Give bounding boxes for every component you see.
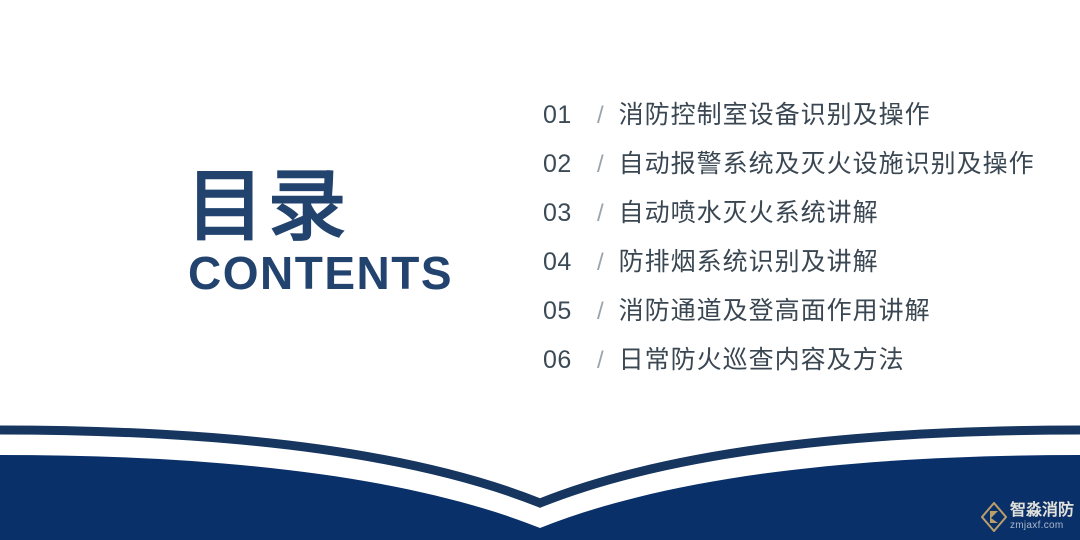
brand-diamond-logo-icon — [981, 502, 1007, 532]
item-label: 防排烟系统识别及讲解 — [619, 242, 879, 278]
slide-canvas: 目录 CONTENTS 01 / 消防控制室设备识别及操作 02 / 自动报警系… — [0, 0, 1080, 540]
item-label: 消防通道及登高面作用讲解 — [619, 291, 931, 327]
item-number: 04 — [543, 248, 585, 277]
page-title-english: CONTENTS — [188, 250, 486, 296]
item-separator: / — [597, 102, 604, 130]
item-number: 02 — [543, 150, 585, 179]
item-separator: / — [597, 347, 604, 375]
item-number: 06 — [543, 346, 585, 375]
list-item[interactable]: 02 / 自动报警系统及灭火设施识别及操作 — [543, 144, 1063, 193]
item-separator: / — [597, 151, 604, 179]
title-block: 目录 CONTENTS — [186, 168, 486, 296]
contents-list: 01 / 消防控制室设备识别及操作 02 / 自动报警系统及灭火设施识别及操作 … — [543, 95, 1063, 389]
item-label: 自动喷水灭火系统讲解 — [619, 193, 879, 229]
watermark: 智淼消防 zmjaxf.com — [981, 502, 1074, 532]
list-item[interactable]: 05 / 消防通道及登高面作用讲解 — [543, 291, 1063, 340]
open-book-decoration-icon — [0, 400, 1080, 540]
list-item[interactable]: 06 / 日常防火巡查内容及方法 — [543, 340, 1063, 389]
watermark-brand-name: 智淼消防 — [1010, 503, 1074, 519]
item-number: 05 — [543, 297, 585, 326]
page-title-chinese: 目录 — [186, 168, 486, 244]
item-number: 03 — [543, 199, 585, 228]
item-number: 01 — [543, 101, 585, 130]
item-label: 自动报警系统及灭火设施识别及操作 — [619, 144, 1035, 180]
item-label: 消防控制室设备识别及操作 — [619, 95, 931, 131]
list-item[interactable]: 03 / 自动喷水灭火系统讲解 — [543, 193, 1063, 242]
list-item[interactable]: 04 / 防排烟系统识别及讲解 — [543, 242, 1063, 291]
item-separator: / — [597, 298, 604, 326]
book-body-shape — [0, 455, 1080, 540]
item-separator: / — [597, 200, 604, 228]
watermark-text: 智淼消防 zmjaxf.com — [1010, 503, 1074, 531]
watermark-url: zmjaxf.com — [1010, 521, 1074, 531]
item-separator: / — [597, 249, 604, 277]
item-label: 日常防火巡查内容及方法 — [619, 340, 905, 376]
list-item[interactable]: 01 / 消防控制室设备识别及操作 — [543, 95, 1063, 144]
